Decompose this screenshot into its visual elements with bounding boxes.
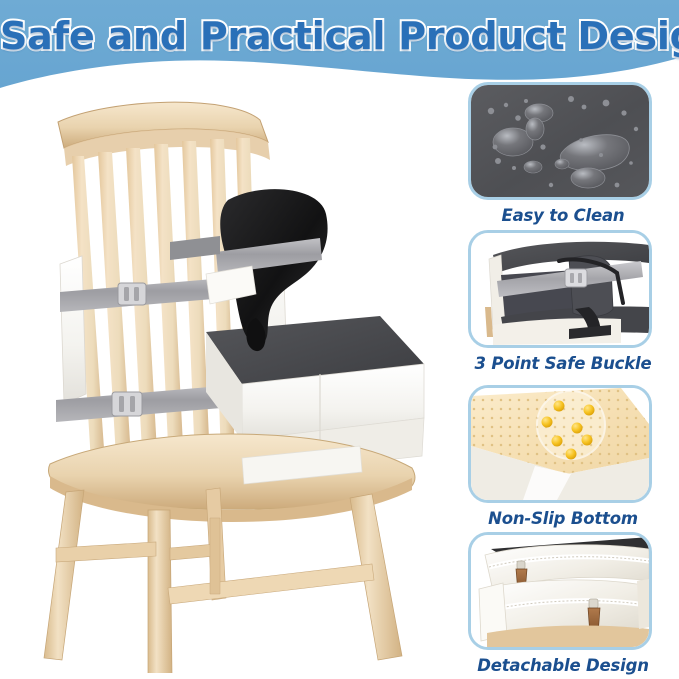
chair-stretchers — [56, 518, 374, 604]
feature-caption: 3 Point Safe Buckle — [468, 354, 658, 373]
water-droplets-on-fabric-thumb[interactable] — [468, 82, 652, 200]
feature-caption: Detachable Design — [468, 656, 658, 675]
feature-list: Easy to Clean — [468, 82, 668, 672]
feature-card-easy-to-clean[interactable]: Easy to Clean — [468, 82, 658, 225]
detachable-zipper-cover-thumb[interactable] — [468, 532, 652, 650]
infographic-page: Safe and Practical Product Design — [0, 0, 679, 679]
non-slip-dotted-base-thumb[interactable] — [468, 385, 652, 503]
feature-caption: Non-Slip Bottom — [468, 509, 658, 528]
feature-card-non-slip-bottom[interactable]: Non-Slip Bottom — [468, 385, 658, 528]
feature-card-3-point-safe-buckle[interactable]: 3 Point Safe Buckle — [468, 230, 658, 373]
feature-card-detachable-design[interactable]: Detachable Design — [468, 532, 658, 675]
booster-left-wing — [60, 256, 86, 404]
feature-caption: Easy to Clean — [468, 206, 658, 225]
three-point-buckle-thumb[interactable] — [468, 230, 652, 348]
page-title: Safe and Practical Product Design — [0, 14, 679, 58]
hero-product-image — [20, 78, 450, 673]
